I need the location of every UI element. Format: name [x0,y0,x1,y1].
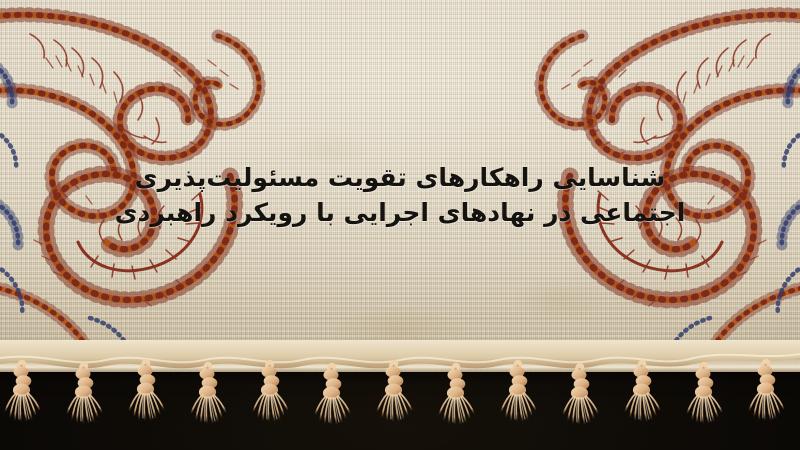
page-title: شناسایی راهکارهای تقویت مسئولیت‌پذیری اج… [0,160,800,230]
title-line-1: شناسایی راهکارهای تقویت مسئولیت‌پذیری [0,160,800,195]
knotted-tassel-fringe-icon [0,340,800,450]
title-line-2: اجتماعی در نهادهای اجرایی با رویکرد راهب… [0,195,800,230]
title-card-canvas: شناسایی راهکارهای تقویت مسئولیت‌پذیری اج… [0,0,800,450]
